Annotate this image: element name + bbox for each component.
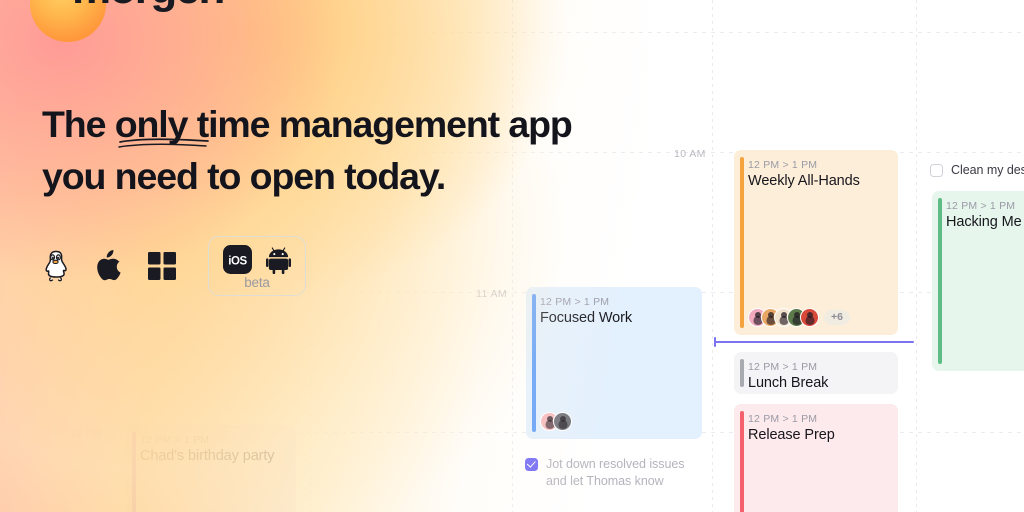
hour-gridline (0, 32, 1024, 33)
task-label: Clean my des (951, 162, 1024, 179)
hour-label-12pm: 12 PM (70, 428, 102, 440)
svg-text:iOS: iOS (228, 256, 247, 268)
event-attendee-avatars[interactable] (540, 412, 566, 431)
event-lunch-break[interactable]: 12 PM > 1 PM Lunch Break (734, 352, 898, 394)
hour-label-9am: 9 AM (70, 21, 96, 33)
event-accent-bar (938, 198, 942, 364)
calendar-column-divider (310, 0, 311, 512)
calendar-column-divider (712, 0, 713, 512)
event-title: Release Prep (748, 427, 888, 445)
calendar-column-divider (916, 0, 917, 512)
event-time: 12 PM > 1 PM (140, 434, 286, 446)
event-focused-work[interactable]: 12 PM > 1 PM Focused Work (526, 287, 702, 439)
event-hacking-meetup[interactable]: 12 PM > 1 PM Hacking Me (932, 191, 1024, 371)
hour-label-11am: 11 AM (476, 288, 507, 300)
calendar-column-divider (512, 0, 513, 512)
avatar (553, 412, 572, 431)
task-item-clean-my-desk[interactable]: Clean my des (930, 162, 1024, 179)
event-accent-bar (132, 432, 136, 512)
event-title: Weekly All-Hands (748, 173, 888, 191)
event-title: Hacking Me (946, 214, 1024, 232)
linux-penguin-icon[interactable] (42, 250, 69, 282)
event-attendee-avatars[interactable]: +6 (748, 308, 850, 327)
event-time: 12 PM > 1 PM (748, 413, 888, 425)
event-release-prep[interactable]: 12 PM > 1 PM Release Prep (734, 404, 898, 512)
ios-icon[interactable]: iOS (223, 245, 252, 274)
event-weekly-all-hands[interactable]: 12 PM > 1 PM Weekly All-Hands +6 (734, 150, 898, 335)
beta-platforms-group[interactable]: iOS beta (208, 236, 306, 296)
event-accent-bar (740, 359, 744, 387)
event-chads-birthday-party[interactable]: 12 PM > 1 PM Chad's birthday party (126, 425, 296, 512)
apple-icon[interactable] (95, 250, 122, 283)
android-icon[interactable] (266, 246, 291, 274)
windows-icon[interactable] (148, 252, 176, 280)
task-checkbox-unchecked[interactable] (930, 164, 943, 177)
current-time-indicator (714, 341, 914, 343)
event-time: 12 PM > 1 PM (748, 159, 888, 171)
task-label: Jot down resolved issues and let Thomas … (546, 456, 700, 489)
event-time: 12 PM > 1 PM (540, 296, 692, 308)
event-time: 12 PM > 1 PM (748, 361, 888, 373)
event-title: Lunch Break (748, 375, 888, 393)
task-checkbox-checked[interactable] (525, 458, 538, 471)
event-title: Chad's birthday party (140, 448, 286, 466)
hour-label-10am: 10 AM (674, 148, 706, 160)
platform-icon-row: iOS beta (42, 236, 306, 296)
event-accent-bar (740, 411, 744, 512)
event-accent-bar (532, 294, 536, 432)
avatar (800, 308, 819, 327)
beta-platform-icons: iOS (223, 245, 291, 274)
event-time: 12 PM > 1 PM (946, 200, 1024, 212)
event-title: Focused Work (540, 310, 692, 328)
beta-label: beta (244, 275, 269, 290)
task-item-jot-down-resolved-issues[interactable]: Jot down resolved issues and let Thomas … (525, 456, 700, 489)
attendees-overflow-badge[interactable]: +6 (824, 310, 850, 326)
event-accent-bar (740, 157, 744, 328)
